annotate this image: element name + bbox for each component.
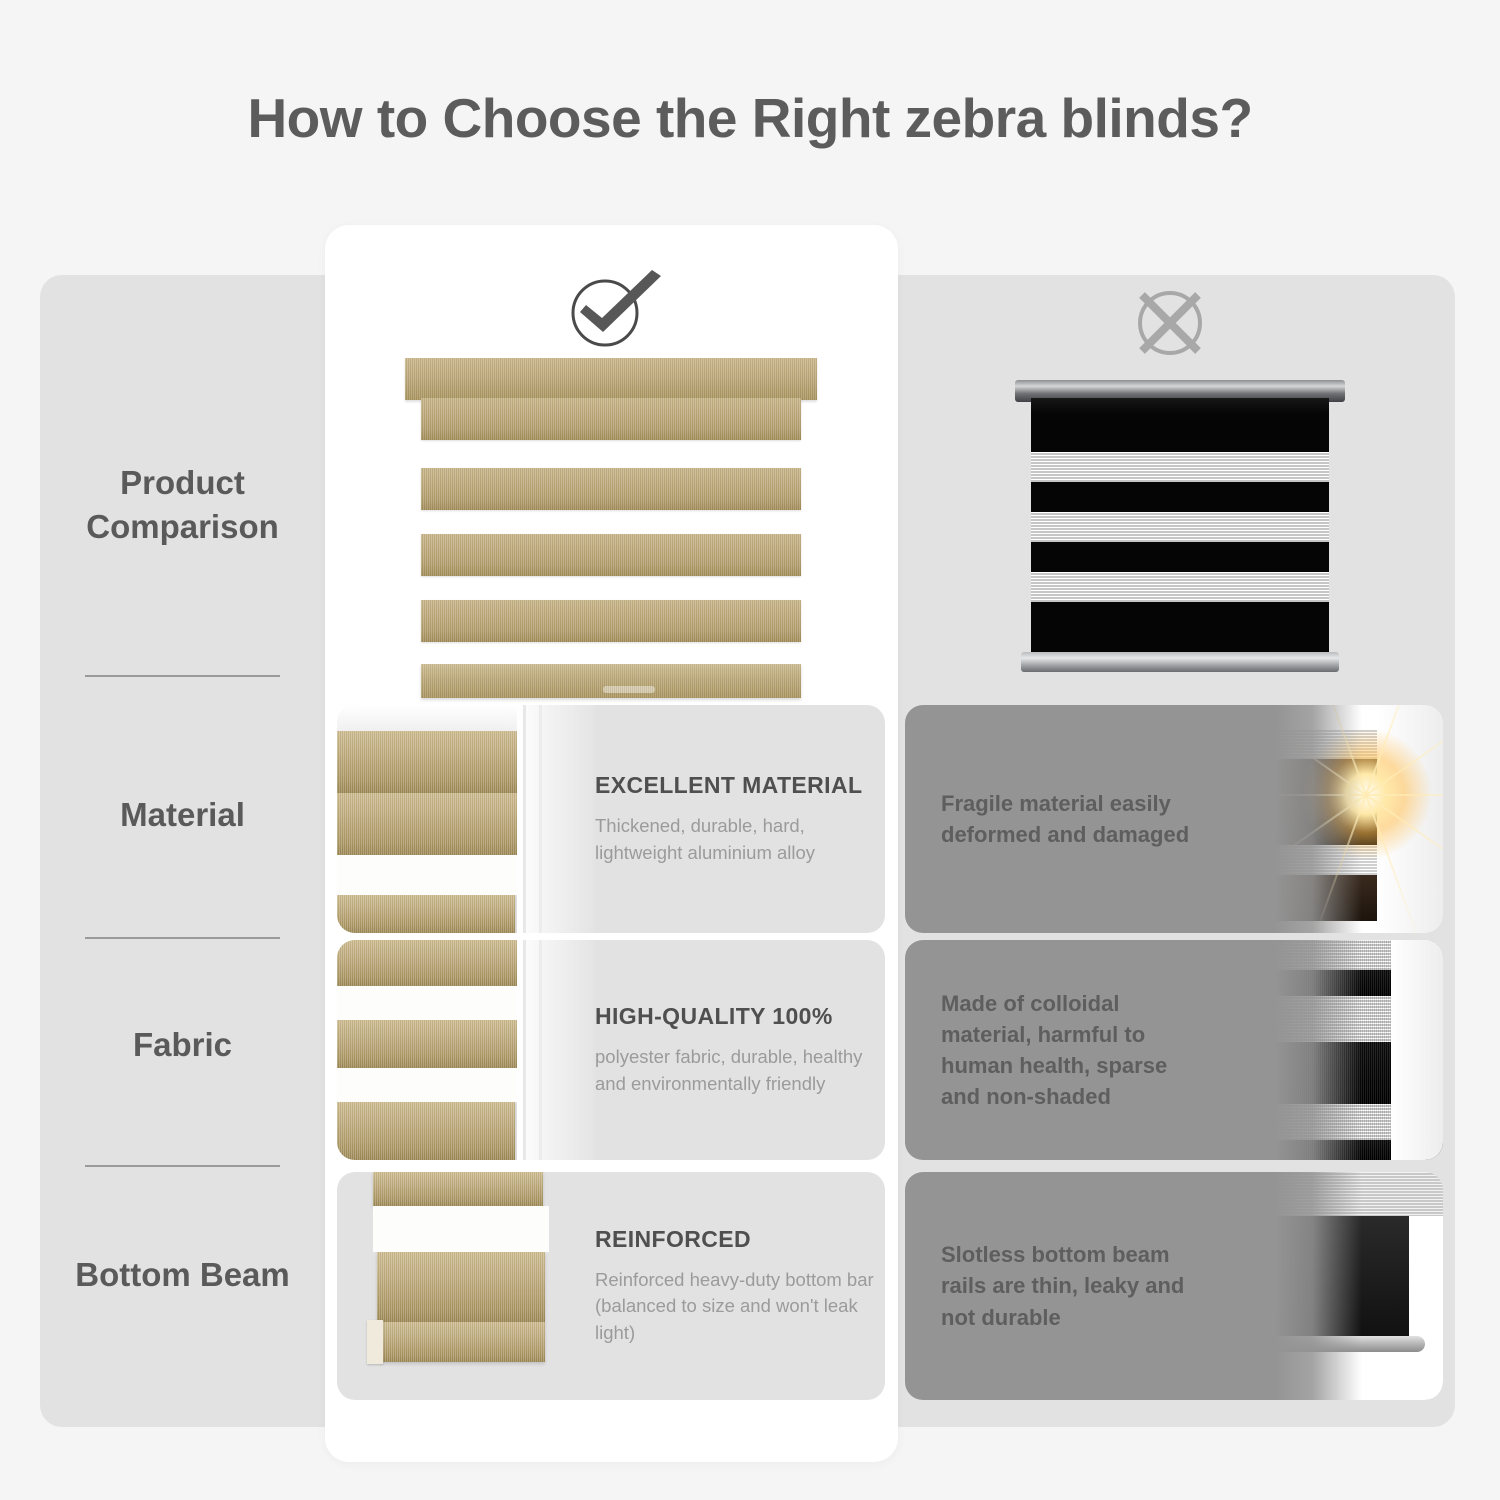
fabric-gap-2 (337, 1068, 522, 1102)
fabric-gap-1 (337, 986, 522, 1020)
page-title: How to Choose the Right zebra blinds? (0, 86, 1500, 150)
good-bottom-beam-text: REINFORCED Reinforced heavy-duty bottom … (595, 1172, 875, 1400)
good-product-image (405, 358, 817, 698)
good-fabric-text: HIGH-QUALITY 100% polyester fabric, dura… (595, 940, 875, 1160)
beam-gap-1 (373, 1206, 549, 1252)
good-fabric-photo (337, 940, 595, 1160)
good-slat-3 (421, 534, 801, 576)
check-circle-icon (560, 268, 670, 350)
row-divider-3 (85, 1165, 280, 1167)
good-fabric-heading: HIGH-QUALITY 100% (595, 1003, 875, 1030)
closeup-slat-1 (337, 731, 525, 793)
row-label-fabric: Fabric (40, 985, 325, 1105)
good-material-heading: EXCELLENT MATERIAL (595, 772, 875, 799)
good-headrail (405, 358, 817, 400)
row-label-column: Product Comparison Material Fabric Botto… (40, 275, 325, 1427)
good-slat-1 (421, 398, 801, 440)
good-feature-card-fabric: HIGH-QUALITY 100% polyester fabric, dura… (337, 940, 885, 1160)
fabric-slat-3 (337, 1102, 515, 1160)
bad-feature-card-material: Fragile material easily deformed and dam… (905, 705, 1443, 933)
bad-feature-card-fabric: Made of colloidal material, harmful to h… (905, 940, 1443, 1160)
closeup-slat-2 (337, 793, 517, 855)
closeup-slat-3 (337, 895, 515, 933)
beam-end-cap (367, 1320, 383, 1364)
row-label-product-comparison: Product Comparison (40, 425, 325, 585)
bad-product-column: Fragile material easily deformed and dam… (905, 275, 1455, 1427)
window-frame-right (517, 705, 595, 933)
bad-overlay-veil (1153, 705, 1443, 933)
good-fabric-body: polyester fabric, durable, healthy and e… (595, 1044, 875, 1097)
bad-material-photo (1153, 705, 1443, 933)
bad-fabric-photo (1153, 940, 1443, 1160)
bad-material-text: Fragile material easily deformed and dam… (941, 705, 1191, 933)
window-frame-right (517, 940, 595, 1160)
good-bottom-beam-body: Reinforced heavy-duty bottom bar (balanc… (595, 1267, 875, 1346)
good-material-photo (337, 705, 595, 933)
bad-bottom-beam-photo (1153, 1172, 1443, 1400)
row-label-material: Material (40, 755, 325, 875)
beam-slat-2 (377, 1252, 545, 1322)
good-slat-4 (421, 600, 801, 642)
good-material-text: EXCELLENT MATERIAL Thickened, durable, h… (595, 705, 875, 933)
bad-feature-card-bottom-beam: Slotless bottom beam rails are thin, lea… (905, 1172, 1443, 1400)
good-feature-card-bottom-beam: REINFORCED Reinforced heavy-duty bottom … (337, 1172, 885, 1400)
row-divider-2 (85, 937, 280, 939)
row-label-bottom-beam: Bottom Beam (40, 1195, 325, 1355)
beam-slat-1 (373, 1172, 543, 1206)
good-bottom-handle (603, 686, 655, 693)
good-feature-card-material: EXCELLENT MATERIAL Thickened, durable, h… (337, 705, 885, 933)
bad-fabric-text: Made of colloidal material, harmful to h… (941, 940, 1191, 1160)
good-slat-2 (421, 468, 801, 510)
bad-bottom-beam-text: Slotless bottom beam rails are thin, lea… (941, 1172, 1191, 1400)
good-material-body: Thickened, durable, hard, lightweight al… (595, 813, 875, 866)
beam-bottom-bar (381, 1322, 545, 1362)
bad-overlay-veil (1153, 940, 1443, 1160)
infographic-page: How to Choose the Right zebra blinds? Pr… (0, 0, 1500, 1500)
fabric-slat-1 (337, 940, 523, 986)
closeup-sheer-gap (337, 855, 522, 895)
good-bottom-bar (421, 664, 801, 698)
good-bottom-beam-heading: REINFORCED (595, 1226, 875, 1253)
row-divider-1 (85, 675, 280, 677)
fabric-slat-2 (337, 1020, 519, 1068)
bad-overlay-veil (1153, 1172, 1443, 1400)
good-bottom-beam-photo (337, 1172, 595, 1400)
